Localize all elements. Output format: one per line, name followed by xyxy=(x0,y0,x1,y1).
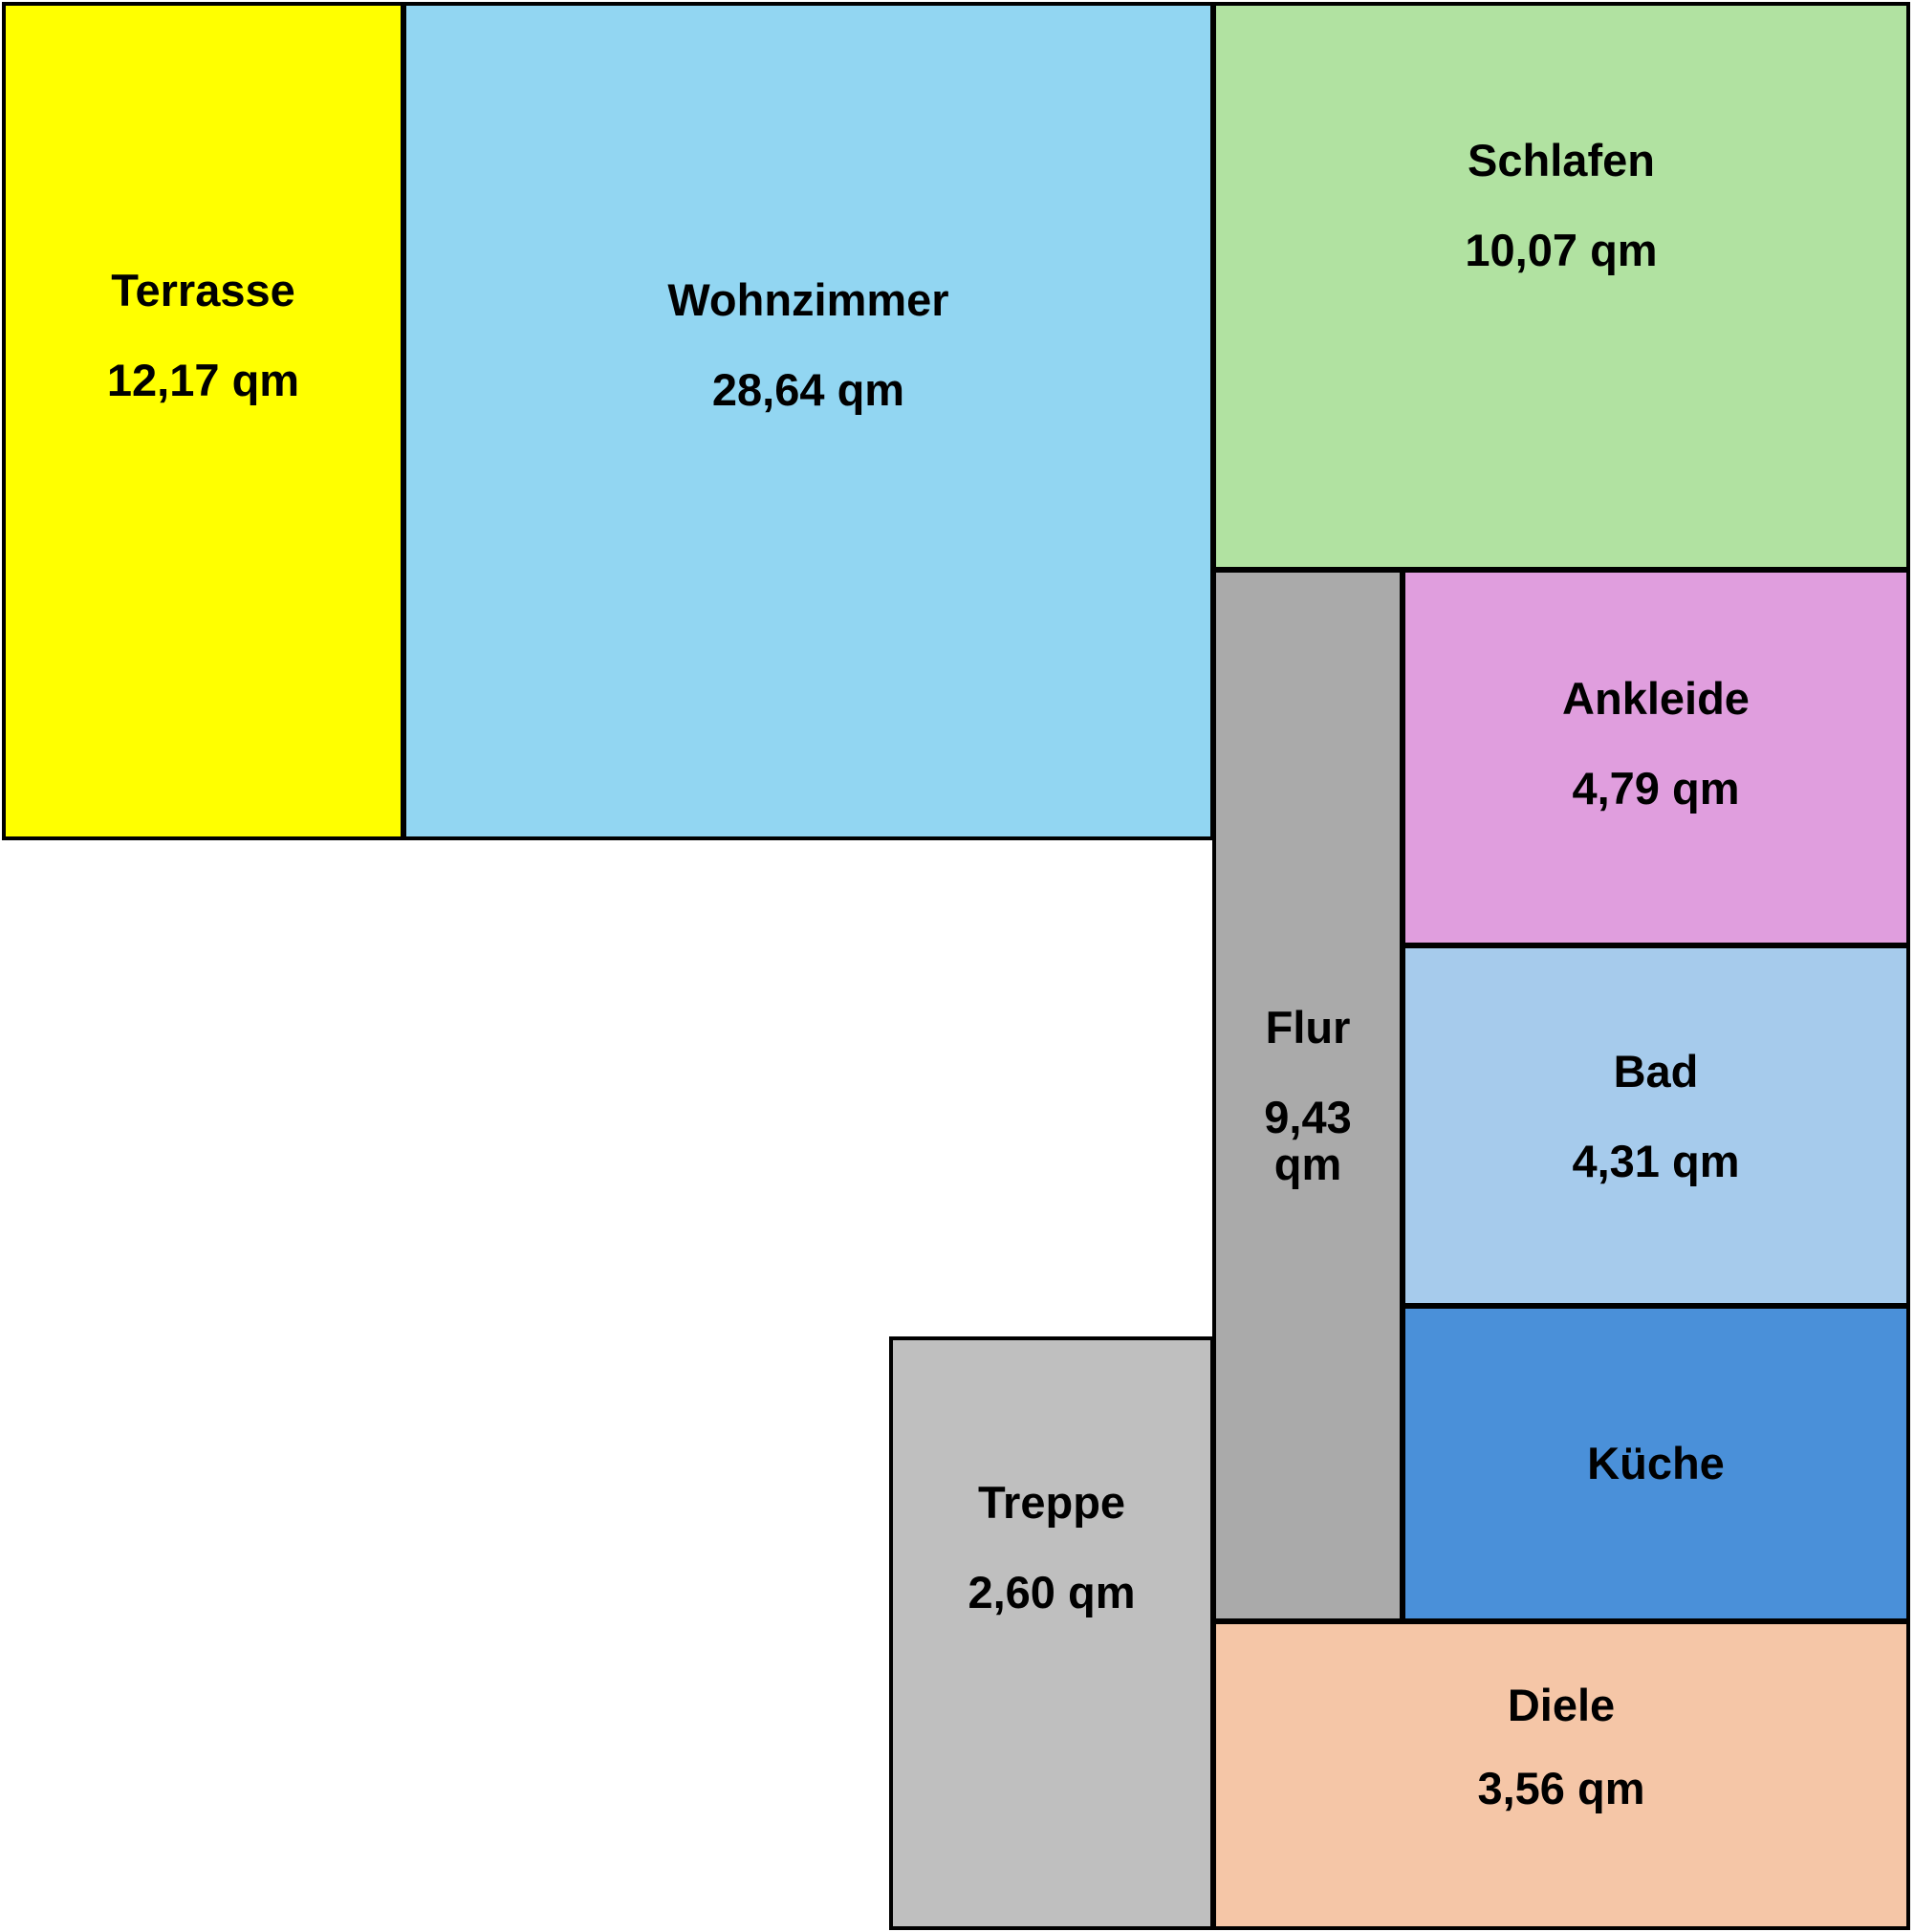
room-ankleide-label: Ankleide xyxy=(1562,675,1750,722)
floor-plan-canvas: Terrasse 12,17 qm Wohnzimmer 28,64 qm Sc… xyxy=(0,0,1914,1932)
room-schlafen[interactable]: Schlafen 10,07 qm xyxy=(1212,2,1910,571)
room-wohnzimmer[interactable]: Wohnzimmer 28,64 qm xyxy=(402,2,1214,840)
room-flur-label: Flur xyxy=(1266,1004,1351,1051)
room-diele[interactable]: Diele 3,56 qm xyxy=(1212,1620,1910,1930)
room-treppe-area: 2,60 qm xyxy=(968,1569,1135,1616)
room-ankleide[interactable]: Ankleide 4,79 qm xyxy=(1402,569,1910,946)
room-schlafen-area: 10,07 qm xyxy=(1465,227,1657,273)
room-bad-area: 4,31 qm xyxy=(1572,1138,1739,1184)
room-wohnzimmer-area: 28,64 qm xyxy=(712,366,904,413)
room-diele-area: 3,56 qm xyxy=(1477,1765,1644,1812)
room-terrasse[interactable]: Terrasse 12,17 qm xyxy=(2,2,404,840)
room-schlafen-label: Schlafen xyxy=(1468,137,1655,184)
room-flur-area: 9,43 qm xyxy=(1236,1094,1380,1188)
room-bad-label: Bad xyxy=(1614,1048,1699,1095)
room-treppe[interactable]: Treppe 2,60 qm xyxy=(889,1336,1214,1930)
room-ankleide-area: 4,79 qm xyxy=(1572,765,1739,812)
room-kueche[interactable]: Küche xyxy=(1402,1305,1910,1622)
room-flur[interactable]: Flur 9,43 qm xyxy=(1212,569,1403,1622)
room-diele-label: Diele xyxy=(1508,1682,1615,1728)
room-terrasse-label: Terrasse xyxy=(111,267,295,314)
room-bad[interactable]: Bad 4,31 qm xyxy=(1402,944,1910,1307)
room-wohnzimmer-label: Wohnzimmer xyxy=(667,276,948,323)
room-terrasse-area: 12,17 qm xyxy=(107,357,299,403)
room-kueche-label: Küche xyxy=(1587,1440,1725,1487)
room-treppe-label: Treppe xyxy=(978,1479,1125,1526)
